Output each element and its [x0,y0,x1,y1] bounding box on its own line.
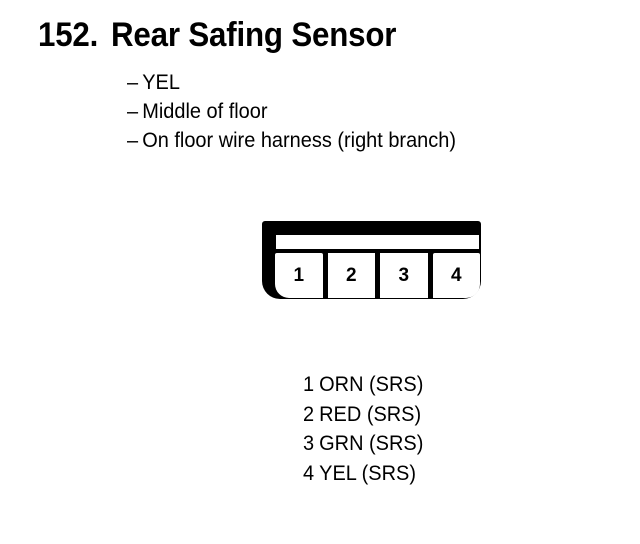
pin-legend-number: 2 [303,400,319,430]
connector-cavity-row: 1 2 3 4 [275,253,480,298]
pin-legend-text: GRN (SRS) [319,432,423,455]
page-title: 152.Rear Safing Sensor [38,16,396,55]
connector-diagram: 1 2 3 4 [262,221,481,299]
description-line-text: YEL [142,71,180,94]
pin-legend-row: 3GRN (SRS) [303,429,423,459]
description-line-1: –YEL [127,68,583,97]
pin-legend-number: 4 [303,459,319,489]
pin-legend-row: 2RED (SRS) [303,400,423,430]
page-title-text: Rear Safing Sensor [111,16,396,54]
pin-legend: 1ORN (SRS) 2RED (SRS) 3GRN (SRS) 4YEL (S… [303,370,430,488]
description-line-text: On floor wire harness (right branch) [142,129,456,152]
connector-cavity-2: 2 [328,253,376,298]
pin-legend-text: YEL (SRS) [319,462,416,485]
pin-legend-number: 1 [303,370,319,400]
dash-marker: – [127,126,142,155]
cavity-number-label: 4 [451,265,462,287]
connector-shell-outline: 1 2 3 4 [262,221,481,299]
cavity-number-label: 1 [293,265,304,287]
pin-legend-text: RED (SRS) [319,403,421,426]
connector-cavity-3: 3 [380,253,428,298]
pin-legend-number: 3 [303,429,319,459]
cavity-number-label: 2 [346,265,357,287]
connector-latch-bar [276,235,479,249]
description-line-2: –Middle of floor [127,97,583,126]
cavity-number-label: 3 [398,265,409,287]
description-line-text: Middle of floor [142,100,267,123]
pin-legend-text: ORN (SRS) [319,373,423,396]
connector-cavity-1: 1 [275,253,323,298]
pin-legend-row: 4YEL (SRS) [303,459,423,489]
dash-marker: – [127,97,142,126]
dash-marker: – [127,68,142,97]
page-title-number: 152. [38,16,98,54]
connector-cavity-4: 4 [433,253,481,298]
description-list: –YEL –Middle of floor –On floor wire har… [127,68,607,155]
pin-legend-row: 1ORN (SRS) [303,370,423,400]
description-line-3: –On floor wire harness (right branch) [127,126,583,155]
